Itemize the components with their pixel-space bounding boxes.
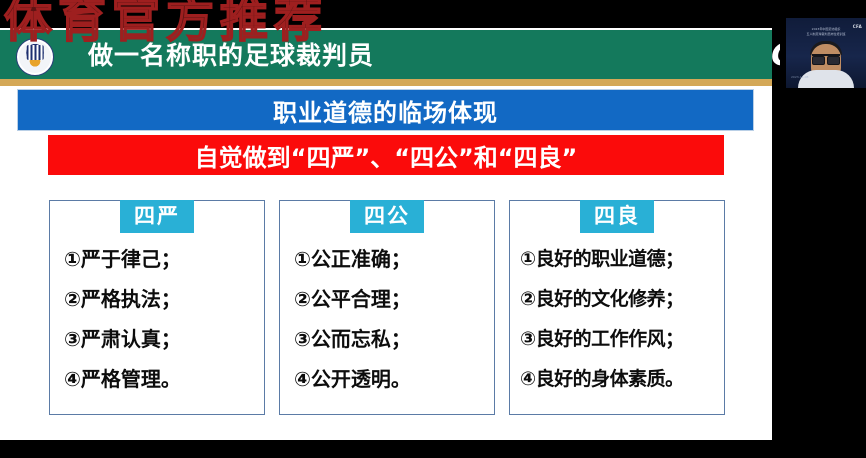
list-item: ④良好的身体素质。 (520, 366, 724, 393)
list-item: ③公而忘私； (294, 326, 494, 353)
list-item: ③严肃认真； (64, 326, 264, 353)
card-si-gong: 四公 ①公正准确； ②公平合理； ③公而忘私； ④公开透明。 (279, 200, 495, 415)
card-list: ①公正准确； ②公平合理； ③公而忘私； ④公开透明。 (280, 246, 494, 393)
video-pip-panel[interactable]: 2023年中国足协组织 五人制足球裁判员岗位培训班 CFA 2023-11-08 (780, 14, 866, 92)
list-item: ②严格执法； (64, 286, 264, 313)
video-pip-frame[interactable]: 2023年中国足协组织 五人制足球裁判员岗位培训班 CFA 2023-11-08 (786, 18, 866, 88)
card-si-yan: 四严 ①严于律己； ②严格执法； ③严肃认真； ④严格管理。 (49, 200, 265, 415)
list-item: ②公平合理； (294, 286, 494, 313)
primary-banner-text: 职业道德的临场体现 (273, 93, 498, 128)
video-timestamp: 2023-11-08 (791, 75, 808, 79)
list-item: ③良好的工作作风； (520, 326, 724, 353)
secondary-banner-text: 自觉做到“四严”、“四公”和“四良” (195, 138, 578, 173)
video-overlay-line2: 五人制足球裁判员岗位培训班 (806, 32, 845, 37)
list-item: ④严格管理。 (64, 366, 264, 393)
list-item: ②良好的文化修养； (520, 286, 724, 313)
card-si-liang: 四良 ①良好的职业道德； ②良好的文化修养； ③良好的工作作风； ④良好的身体素… (509, 200, 725, 415)
card-list: ①严于律己； ②严格执法； ③严肃认真； ④严格管理。 (50, 246, 264, 393)
glasses-icon (812, 54, 840, 64)
card-title: 四公 (350, 200, 424, 233)
card-title: 四良 (580, 200, 654, 233)
cards-row: 四严 ①严于律己； ②严格执法； ③严肃认真； ④严格管理。 四公 ①公正准确；… (49, 200, 725, 415)
video-cfa-logo: CFA (853, 24, 862, 29)
cfa-crest-icon (16, 38, 54, 76)
card-list: ①良好的职业道德； ②良好的文化修养； ③良好的工作作风； ④良好的身体素质。 (510, 246, 724, 393)
slide-header-title: 做一名称职的足球裁判员 (88, 38, 648, 74)
secondary-banner: 自觉做到“四严”、“四公”和“四良” (48, 135, 724, 175)
screen-root: 做一名称职的足球裁判员 CFA 体育官方推荐 职业道德的临场体现 自觉做到“四严… (0, 0, 866, 458)
speaker-shirt (798, 70, 854, 88)
header-accent-stripe (0, 79, 772, 86)
list-item: ①严于律己； (64, 246, 264, 273)
list-item: ①公正准确； (294, 246, 494, 273)
header-accent-underline (0, 86, 772, 88)
list-item: ④公开透明。 (294, 366, 494, 393)
card-title: 四严 (120, 200, 194, 233)
primary-banner: 职业道德的临场体现 (17, 89, 754, 131)
list-item: ①良好的职业道德； (520, 246, 724, 273)
